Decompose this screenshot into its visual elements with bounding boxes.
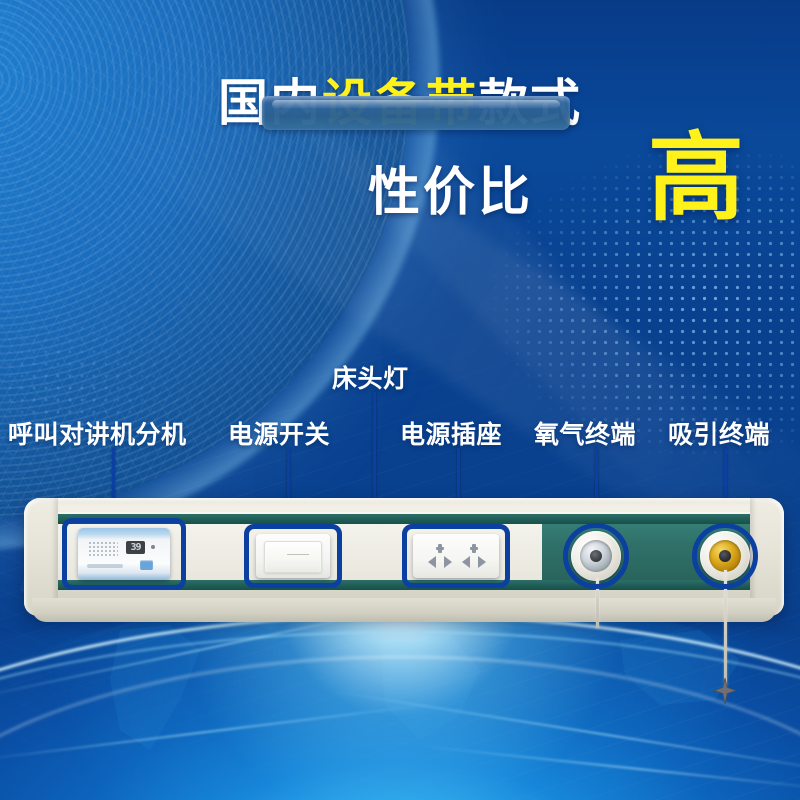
panel-bottom-lip bbox=[32, 598, 776, 622]
callout-label-intercom-extension: 呼叫对讲机分机 bbox=[8, 415, 187, 451]
bed-lamp-gloss bbox=[272, 100, 560, 109]
highlight-box-power-socket bbox=[402, 524, 510, 588]
callout-label-bed-lamp: 床头灯 bbox=[332, 359, 409, 395]
callout-label-oxygen-terminal: 氧气终端 bbox=[534, 415, 636, 451]
callout-label-power-socket: 电源插座 bbox=[400, 415, 502, 451]
pull-cord-weight-icon bbox=[714, 678, 736, 704]
banner-canvas: 国内设备带款式 性价比 高 呼叫对讲机分机 电源开关 床头灯 电源插座 氧气终端… bbox=[0, 0, 800, 800]
callout-label-suction-terminal: 吸引终端 bbox=[668, 415, 770, 451]
callout-label-power-switch: 电源开关 bbox=[228, 415, 330, 451]
highlight-box-power-switch bbox=[244, 524, 342, 588]
highlight-circle-suction-terminal bbox=[692, 523, 758, 589]
highlight-circle-oxygen-terminal bbox=[563, 523, 629, 589]
highlight-box-intercom-extension bbox=[62, 518, 186, 590]
